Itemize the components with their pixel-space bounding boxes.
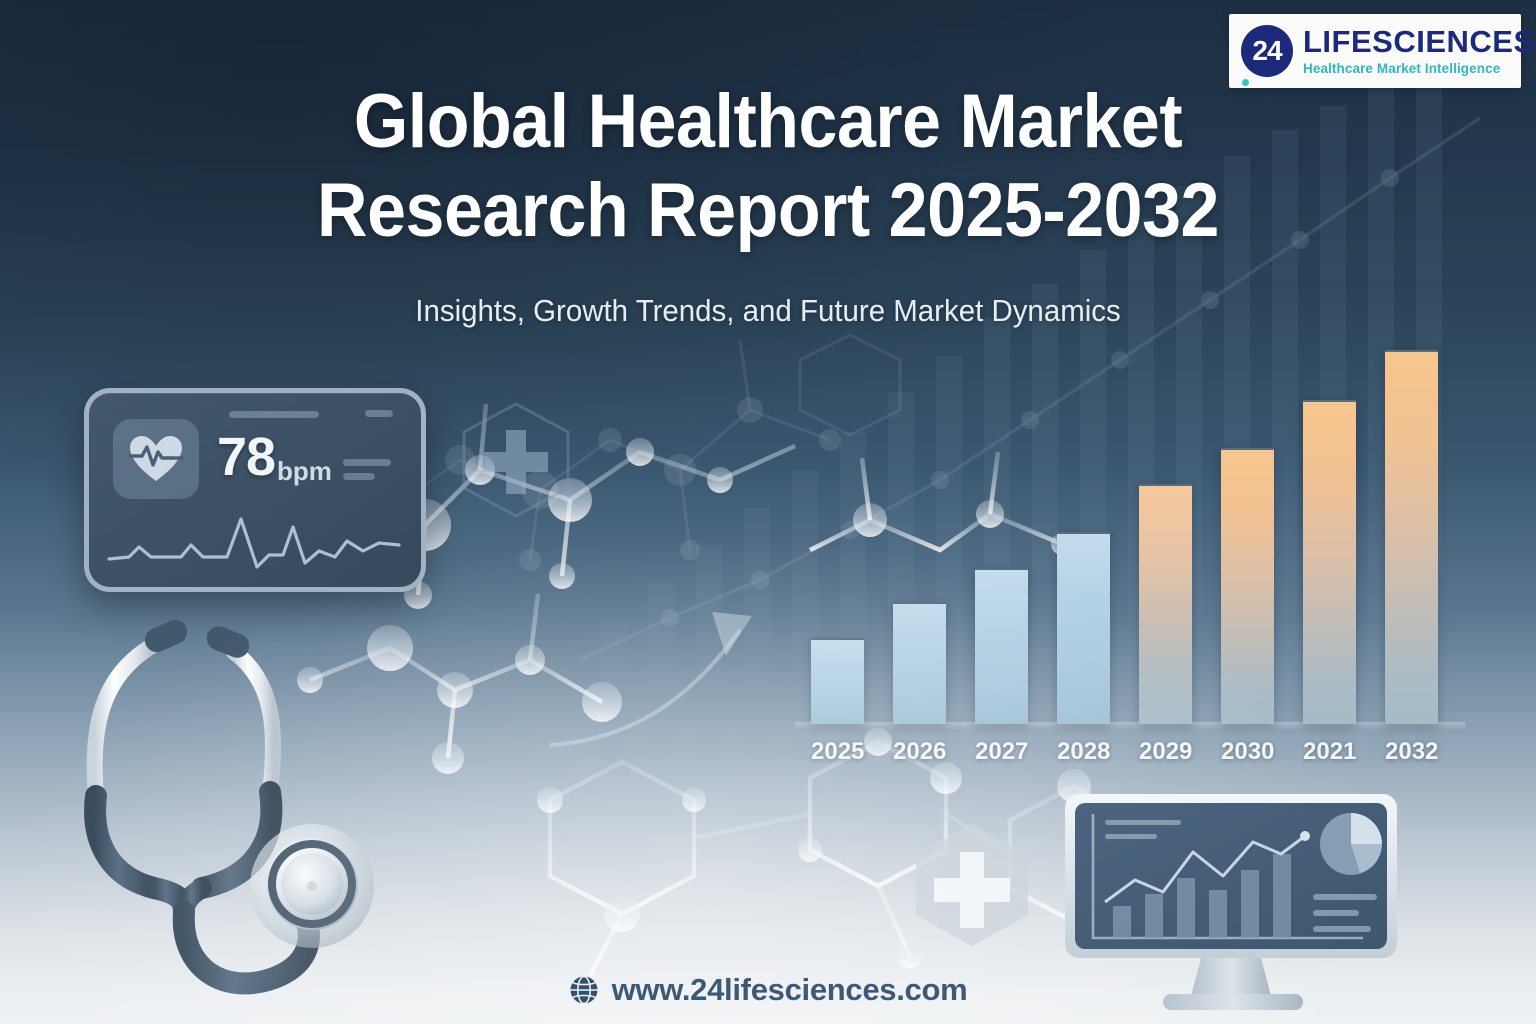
heart-rate-card: 78 bpm <box>84 388 426 592</box>
bar-label-2032: 2032 <box>1385 738 1438 766</box>
heart-rate-unit: bpm <box>277 456 332 487</box>
bar-2032 <box>1385 350 1438 724</box>
bar-label-2026: 2026 <box>893 738 946 766</box>
ecg-waveform <box>107 511 407 575</box>
logo-brand-name: LIFESCIENCES <box>1303 26 1535 57</box>
page-title: Global Healthcare Market Research Report… <box>61 78 1474 256</box>
logo-badge-24: 24 <box>1241 25 1293 77</box>
bar-2021 <box>1303 400 1356 724</box>
bar-label-2025: 2025 <box>811 738 864 766</box>
bar-2025 <box>811 638 864 724</box>
stethoscope-illustration <box>44 596 404 996</box>
website-url[interactable]: www.24lifesciences.com <box>612 972 968 1008</box>
logo-tagline: Healthcare Market Intelligence <box>1303 62 1535 76</box>
bar-chart: 2025 2026 2027 2028 2029 2030 2021 2032 <box>795 330 1455 770</box>
footer: www.24lifesciences.com <box>0 972 1536 1008</box>
placeholder-bar-1 <box>229 411 319 418</box>
title-line-2: Research Report 2025-2032 <box>190 167 1346 256</box>
bar-2027 <box>975 568 1028 724</box>
bar-label-2030: 2030 <box>1221 738 1274 766</box>
placeholder-bar-2 <box>365 410 393 417</box>
placeholder-bar-4 <box>343 473 375 480</box>
poster-canvas: 78 bpm <box>0 0 1536 1024</box>
page-subtitle: Insights, Growth Trends, and Future Mark… <box>38 293 1497 329</box>
bar-label-2027: 2027 <box>975 738 1028 766</box>
globe-icon <box>569 975 599 1005</box>
bar-2030 <box>1221 448 1274 724</box>
title-line-1: Global Healthcare Market <box>354 79 1182 164</box>
heart-pulse-icon <box>128 434 184 484</box>
bar-label-2021: 2021 <box>1303 738 1356 766</box>
bar-2029 <box>1139 484 1192 724</box>
medical-cross-hexagon-icon-light <box>902 818 1042 952</box>
bar-2026 <box>893 602 946 724</box>
placeholder-bar-3 <box>343 459 391 466</box>
heart-pulse-icon-tile <box>113 419 199 499</box>
brand-logo[interactable]: 24 LIFESCIENCES Healthcare Market Intell… <box>1229 14 1521 88</box>
bar-2028 <box>1057 532 1110 724</box>
bar-label-2029: 2029 <box>1139 738 1192 766</box>
medical-cross-hexagon-icon <box>452 398 580 522</box>
heart-rate-value: 78 <box>217 426 275 488</box>
bar-label-2028: 2028 <box>1057 738 1110 766</box>
